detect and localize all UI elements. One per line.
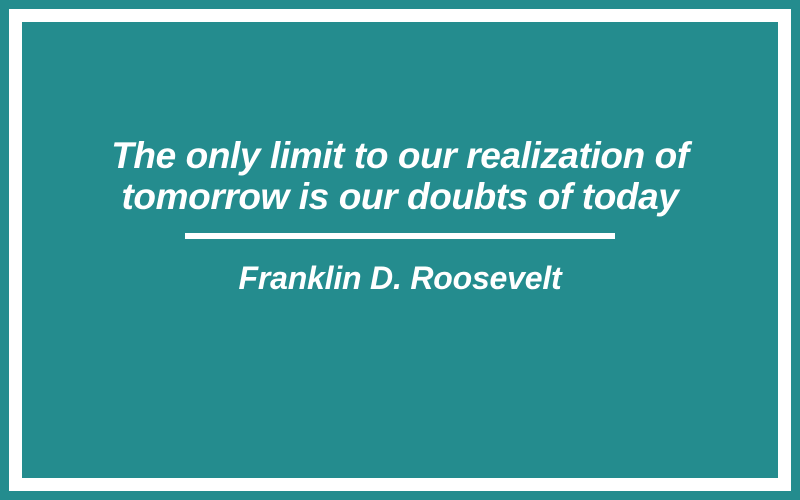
card-inner-panel: The only limit to our realization of tom…	[22, 22, 778, 478]
quote-text: The only limit to our realization of tom…	[22, 135, 778, 217]
quote-author: Franklin D. Roosevelt	[22, 259, 778, 297]
quote-block: The only limit to our realization of tom…	[22, 135, 778, 297]
card-white-frame: The only limit to our realization of tom…	[9, 9, 791, 491]
quote-divider	[185, 233, 615, 239]
quote-card: The only limit to our realization of tom…	[0, 0, 800, 500]
